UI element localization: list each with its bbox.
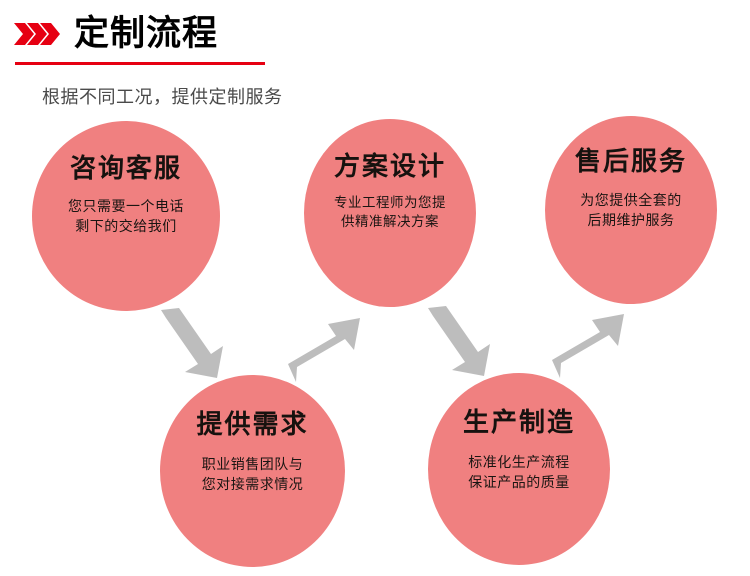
flow-node-description: 为您提供全套的 后期维护服务 bbox=[580, 191, 682, 232]
page-title: 定制流程 bbox=[74, 16, 218, 51]
flow-node-manufacture[interactable]: 生产制造 标准化生产流程 保证产品的质量 bbox=[428, 373, 610, 565]
flow-node-desc-line-1: 为您提供全套的 bbox=[580, 191, 682, 211]
flow-node-description: 专业工程师为您提 供精准解决方案 bbox=[334, 194, 446, 233]
triple-chevron-right-icon bbox=[14, 21, 60, 47]
flow-node-desc-line-1: 专业工程师为您提 bbox=[334, 194, 446, 214]
flow-connector-arrow-down-right bbox=[155, 306, 227, 384]
flow-node-aftersales[interactable]: 售后服务 为您提供全套的 后期维护服务 bbox=[545, 116, 717, 304]
flow-connector-arrow-up-right bbox=[552, 298, 626, 380]
flow-node-title: 售后服务 bbox=[575, 148, 687, 177]
slide-canvas: 定制流程 根据不同工况，提供定制服务 咨询客服 您只需要一个电话 剩下的交给我们… bbox=[0, 0, 750, 576]
flow-node-title: 提供需求 bbox=[196, 411, 308, 440]
flow-node-desc-line-2: 剩下的交给我们 bbox=[68, 217, 184, 237]
flow-connector-arrow-down-right bbox=[422, 304, 494, 382]
flow-node-desc-line-1: 职业销售团队与 bbox=[202, 455, 304, 475]
process-flow-diagram: 咨询客服 您只需要一个电话 剩下的交给我们 方案设计 专业工程师为您提 供精准解… bbox=[0, 110, 750, 576]
flow-node-desc-line-2: 您对接需求情况 bbox=[202, 475, 304, 495]
title-row: 定制流程 bbox=[14, 16, 218, 51]
title-underline-divider bbox=[15, 62, 265, 65]
flow-node-design[interactable]: 方案设计 专业工程师为您提 供精准解决方案 bbox=[304, 119, 476, 307]
flow-node-requirement[interactable]: 提供需求 职业销售团队与 您对接需求情况 bbox=[160, 375, 345, 567]
flow-node-title: 咨询客服 bbox=[70, 155, 182, 184]
flow-node-title: 生产制造 bbox=[463, 409, 575, 438]
flow-node-description: 您只需要一个电话 剩下的交给我们 bbox=[68, 197, 184, 238]
flow-node-desc-line-2: 后期维护服务 bbox=[580, 211, 682, 231]
page-header: 定制流程 根据不同工况，提供定制服务 bbox=[0, 0, 750, 110]
flow-node-desc-line-2: 供精准解决方案 bbox=[334, 213, 446, 233]
flow-node-desc-line-2: 保证产品的质量 bbox=[468, 473, 570, 493]
flow-connector-arrow-up-right bbox=[288, 302, 362, 384]
flow-node-desc-line-1: 标准化生产流程 bbox=[468, 453, 570, 473]
flow-node-desc-line-1: 您只需要一个电话 bbox=[68, 197, 184, 217]
flow-node-consult[interactable]: 咨询客服 您只需要一个电话 剩下的交给我们 bbox=[32, 121, 220, 311]
flow-node-title: 方案设计 bbox=[334, 153, 446, 182]
flow-node-description: 职业销售团队与 您对接需求情况 bbox=[202, 455, 304, 496]
flow-node-description: 标准化生产流程 保证产品的质量 bbox=[468, 453, 570, 494]
page-subtitle: 根据不同工况，提供定制服务 bbox=[42, 83, 283, 109]
